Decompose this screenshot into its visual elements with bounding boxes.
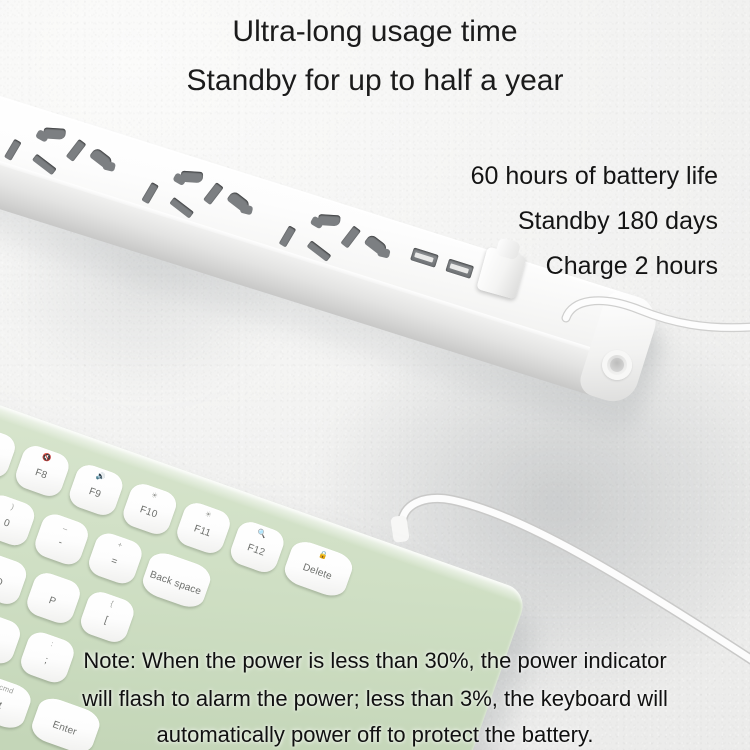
key-delete[interactable]: 🔒Delete bbox=[281, 537, 356, 600]
key-secondary-label: ) bbox=[0, 494, 37, 519]
key-secondary-label: 🔒 bbox=[292, 540, 355, 570]
feature-battery-life: 60 hours of battery life bbox=[471, 162, 718, 191]
key-label: F10 bbox=[139, 504, 159, 520]
feature-charge-time: Charge 2 hours bbox=[546, 252, 718, 281]
key-f12[interactable]: 🔍F12 bbox=[227, 518, 287, 575]
note-line-2: will flash to alarm the power; less than… bbox=[0, 686, 750, 712]
key-0[interactable]: )0 bbox=[0, 492, 38, 549]
key-back-space[interactable]: Back space bbox=[139, 549, 214, 612]
key-label: O bbox=[0, 575, 4, 588]
key-p[interactable]: P bbox=[24, 569, 84, 626]
key-secondary-label: 🔇 bbox=[23, 445, 71, 470]
key-label: F9 bbox=[87, 486, 102, 500]
key-secondary-label: 🔊 bbox=[77, 464, 125, 489]
key-f10[interactable]: ☀F10 bbox=[120, 480, 180, 537]
note-line-1: Note: When the power is less than 30%, t… bbox=[0, 648, 750, 674]
key-label: - bbox=[57, 536, 64, 548]
key--[interactable]: {[ bbox=[77, 588, 137, 645]
key-f8[interactable]: 🔇F8 bbox=[12, 442, 72, 499]
key-label: P bbox=[47, 595, 57, 608]
key-secondary-label: { bbox=[88, 591, 136, 616]
key-o[interactable]: O bbox=[0, 550, 30, 607]
key--[interactable]: += bbox=[85, 530, 145, 587]
key-secondary-label: _ bbox=[42, 513, 90, 538]
key-secondary-label: 🔍 bbox=[238, 521, 286, 546]
note-line-3: automatically power off to protect the b… bbox=[0, 722, 750, 748]
key-label: F11 bbox=[193, 523, 213, 539]
key-f9[interactable]: 🔊F9 bbox=[66, 461, 126, 518]
key--[interactable]: _- bbox=[32, 511, 92, 568]
key-secondary-label: ☀ bbox=[184, 502, 232, 527]
key-secondary-label: + bbox=[96, 532, 144, 557]
key-label: 0 bbox=[2, 517, 11, 529]
key-label: = bbox=[110, 555, 119, 567]
key-label: F12 bbox=[246, 542, 266, 558]
headline-secondary: Standby for up to half a year bbox=[0, 64, 750, 98]
key-f11[interactable]: ☀F11 bbox=[174, 499, 234, 556]
headline-primary: Ultra-long usage time bbox=[0, 15, 750, 49]
key-label: [ bbox=[103, 614, 109, 625]
feature-standby: Standby 180 days bbox=[518, 207, 718, 236]
key-label: Back space bbox=[148, 569, 202, 597]
key-secondary-label: ☀ bbox=[130, 483, 178, 508]
product-marketing-image: ⏯F5⏮F6⏭F7🔇F8🔊F9☀F10☀F11🔍F12🔒Delete&7*8(9… bbox=[0, 0, 750, 750]
key-secondary-label: ⏭ bbox=[0, 426, 18, 451]
key-label: F8 bbox=[34, 467, 49, 481]
key-label: Delete bbox=[301, 561, 333, 581]
